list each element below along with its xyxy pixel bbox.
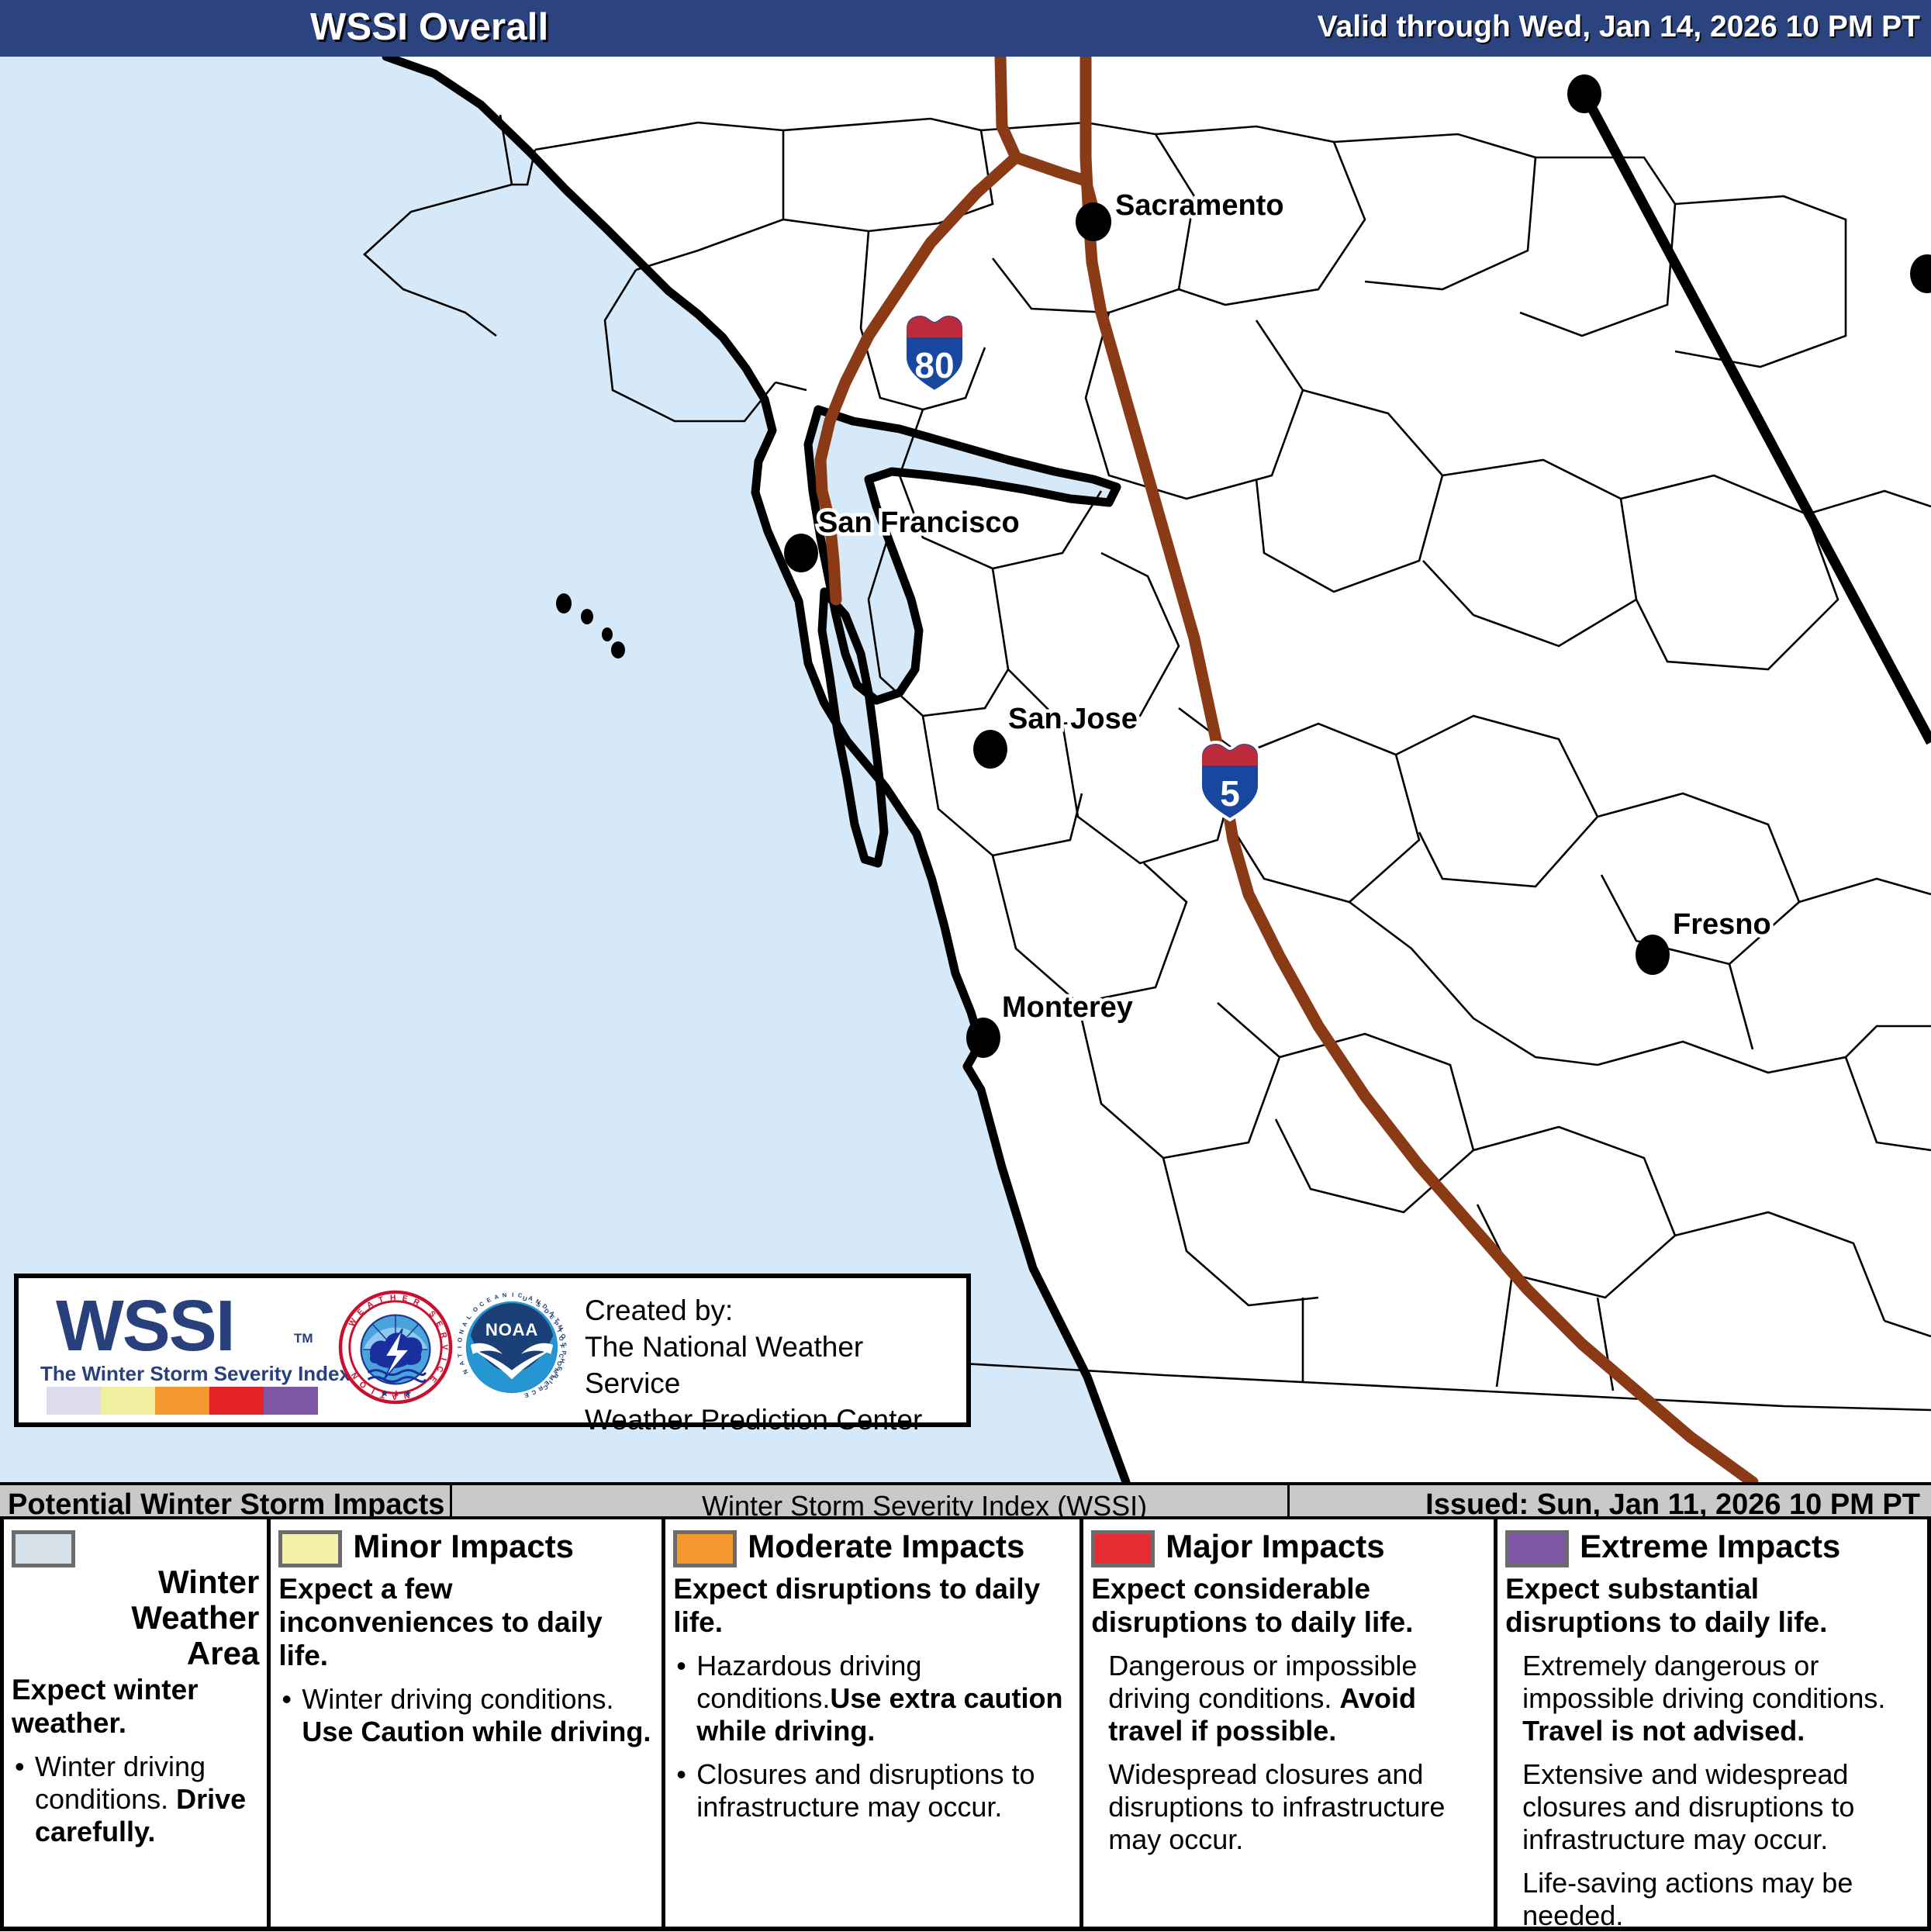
bullet-text: Extensive and widespread closures and di… bbox=[1522, 1758, 1854, 1855]
legend-title-winter-weather-area: WinterWeatherArea bbox=[83, 1564, 259, 1671]
created-by-label: Created by: bbox=[585, 1292, 966, 1329]
impacts-status-bar: Potential Winter Storm Impacts Winter St… bbox=[0, 1482, 1931, 1519]
svg-text:C: C bbox=[478, 1300, 485, 1308]
scale-swatch-winter-weather bbox=[47, 1387, 101, 1415]
svg-text:L: L bbox=[465, 1313, 473, 1320]
wssi-subtitle: The Winter Storm Severity Index bbox=[40, 1362, 351, 1386]
created-by-block: Created by: The National Weather Service… bbox=[585, 1292, 966, 1438]
legend-swatch-moderate-impacts bbox=[673, 1530, 737, 1567]
legend-bullet: •Winter driving conditions. Drive carefu… bbox=[12, 1751, 259, 1848]
legend-column-moderate-impacts: Moderate ImpactsExpect disruptions to da… bbox=[662, 1519, 1079, 1927]
legend-swatch-major-impacts bbox=[1091, 1530, 1155, 1567]
svg-text:80: 80 bbox=[914, 345, 954, 385]
bullet-dot-icon: • bbox=[15, 1751, 25, 1783]
bullet-text: Widespread closures and disruptions to i… bbox=[1108, 1758, 1445, 1855]
svg-text:E: E bbox=[485, 1296, 492, 1304]
svg-text:O: O bbox=[558, 1336, 565, 1341]
svg-text:Fresno: Fresno bbox=[1673, 908, 1771, 941]
issued-label: Issued: Sun, Jan 11, 2026 10 PM PT bbox=[1425, 1488, 1920, 1522]
bullet-dot-icon: • bbox=[282, 1683, 292, 1716]
legend-bullets-minor-impacts: •Winter driving conditions. Use Caution … bbox=[278, 1683, 654, 1748]
svg-text:A: A bbox=[461, 1320, 469, 1327]
svg-text:Monterey: Monterey bbox=[1002, 991, 1133, 1024]
scale-swatch-moderate bbox=[155, 1387, 209, 1415]
created-by-center: Weather Prediction Center bbox=[585, 1401, 966, 1438]
svg-text:H: H bbox=[390, 1294, 396, 1302]
legend-intro-minor-impacts: Expect a few inconveniences to daily lif… bbox=[278, 1572, 654, 1672]
scale-swatch-major bbox=[209, 1387, 264, 1415]
created-by-org: The National Weather Service bbox=[585, 1329, 966, 1401]
svg-text:V: V bbox=[440, 1345, 449, 1350]
national-weather-service-logo: W E A T H E R S E R V I C E N O I T A N bbox=[338, 1290, 453, 1405]
bullet-text: Life-saving actions may be needed. bbox=[1522, 1867, 1853, 1931]
impacts-legend: WinterWeatherAreaExpect winter weather.•… bbox=[0, 1519, 1931, 1931]
svg-text:F: F bbox=[558, 1344, 565, 1348]
legend-swatch-winter-weather-area bbox=[12, 1530, 75, 1567]
svg-text:C: C bbox=[530, 1388, 537, 1397]
legend-bullet: •Closures and disruptions to infrastruct… bbox=[673, 1758, 1072, 1823]
page-header: WSSI Overall Valid through Wed, Jan 14, … bbox=[0, 0, 1931, 57]
svg-text:A: A bbox=[458, 1360, 465, 1366]
svg-text:T: T bbox=[555, 1328, 563, 1334]
wssi-wordmark: WSSI bbox=[56, 1284, 234, 1367]
wssi-color-scale bbox=[47, 1387, 318, 1415]
svg-text:E: E bbox=[523, 1391, 530, 1399]
svg-text:5: 5 bbox=[1220, 773, 1240, 814]
legend-bullet: Dangerous or impossible driving conditio… bbox=[1091, 1650, 1486, 1747]
svg-text:N: N bbox=[461, 1368, 470, 1376]
wssi-trademark: TM bbox=[294, 1331, 313, 1346]
bullet-text: Extremely dangerous or impossible drivin… bbox=[1522, 1650, 1885, 1714]
legend-intro-moderate-impacts: Expect disruptions to daily life. bbox=[673, 1572, 1072, 1639]
legend-bullet: •Hazardous driving conditions.Use extra … bbox=[673, 1650, 1072, 1747]
svg-text:O: O bbox=[472, 1305, 480, 1314]
noaa-logo: NOAA N A T I O N A L O C E A N I C A N D bbox=[454, 1290, 569, 1405]
bullet-dot-icon: • bbox=[676, 1758, 686, 1791]
statusbar-divider-1 bbox=[450, 1485, 452, 1522]
wssi-overall-map-page: WSSI Overall Valid through Wed, Jan 14, … bbox=[0, 0, 1931, 1931]
legend-bullet: Extremely dangerous or impossible drivin… bbox=[1505, 1650, 1919, 1747]
scale-swatch-minor bbox=[101, 1387, 155, 1415]
legend-bullet: •Winter driving conditions. Use Caution … bbox=[278, 1683, 654, 1748]
legend-intro-winter-weather-area: Expect winter weather. bbox=[12, 1673, 259, 1740]
legend-bullets-moderate-impacts: •Hazardous driving conditions.Use extra … bbox=[673, 1650, 1072, 1823]
legend-bullet: Extensive and widespread closures and di… bbox=[1505, 1758, 1919, 1856]
statusbar-divider-2 bbox=[1287, 1485, 1290, 1522]
legend-bullets-winter-weather-area: •Winter driving conditions. Drive carefu… bbox=[12, 1751, 259, 1848]
legend-bullet: Life-saving actions may be needed. bbox=[1505, 1867, 1919, 1932]
svg-text:NOAA: NOAA bbox=[485, 1320, 538, 1339]
svg-text:I: I bbox=[512, 1291, 513, 1298]
svg-text:San Jose: San Jose bbox=[1008, 703, 1138, 735]
legend-column-major-impacts: Major ImpactsExpect considerable disrupt… bbox=[1079, 1519, 1494, 1927]
legend-bullet: Widespread closures and disruptions to i… bbox=[1091, 1758, 1486, 1856]
bullet-text: Closures and disruptions to infrastructu… bbox=[696, 1758, 1035, 1823]
svg-text:★: ★ bbox=[403, 1388, 412, 1399]
bullet-dot-icon: • bbox=[676, 1650, 686, 1682]
svg-text:San Francisco: San Francisco bbox=[818, 506, 1020, 539]
bullet-text: Winter driving conditions. bbox=[302, 1683, 613, 1715]
bullet-emphasis: Travel is not advised. bbox=[1522, 1715, 1805, 1747]
legend-swatch-extreme-impacts bbox=[1505, 1530, 1569, 1567]
wssi-credit-box: WSSI TM The Winter Storm Severity Index bbox=[14, 1274, 971, 1427]
legend-title-major-impacts: Major Impacts bbox=[1166, 1529, 1384, 1564]
legend-bullets-extreme-impacts: Extremely dangerous or impossible drivin… bbox=[1505, 1650, 1919, 1932]
legend-bullets-major-impacts: Dangerous or impossible driving conditio… bbox=[1091, 1650, 1486, 1856]
svg-text:N: N bbox=[502, 1291, 507, 1299]
svg-text:C: C bbox=[558, 1353, 565, 1359]
legend-title-extreme-impacts: Extreme Impacts bbox=[1580, 1529, 1840, 1564]
svg-text:★: ★ bbox=[392, 1388, 401, 1399]
svg-text:N: N bbox=[458, 1329, 465, 1335]
legend-swatch-minor-impacts bbox=[278, 1530, 342, 1567]
svg-text:O: O bbox=[456, 1337, 464, 1343]
svg-text:T: T bbox=[456, 1353, 464, 1357]
bullet-emphasis: Use Caution while driving. bbox=[302, 1716, 651, 1747]
potential-impacts-label: Potential Winter Storm Impacts bbox=[8, 1488, 444, 1522]
page-title: WSSI Overall bbox=[310, 5, 548, 49]
svg-text:I: I bbox=[456, 1346, 463, 1348]
legend-column-minor-impacts: Minor ImpactsExpect a few inconveniences… bbox=[267, 1519, 662, 1927]
legend-column-extreme-impacts: Extreme ImpactsExpect substantial disrup… bbox=[1494, 1519, 1927, 1927]
scale-swatch-extreme bbox=[264, 1387, 318, 1415]
svg-text:A: A bbox=[493, 1293, 499, 1301]
legend-intro-extreme-impacts: Expect substantial disruptions to daily … bbox=[1505, 1572, 1919, 1639]
legend-title-minor-impacts: Minor Impacts bbox=[353, 1529, 574, 1564]
svg-text:★: ★ bbox=[381, 1388, 389, 1399]
svg-text:Sacramento: Sacramento bbox=[1115, 189, 1284, 222]
legend-intro-major-impacts: Expect considerable disruptions to daily… bbox=[1091, 1572, 1486, 1639]
legend-column-winter-weather-area: WinterWeatherAreaExpect winter weather.•… bbox=[4, 1519, 267, 1927]
valid-through-text: Valid through Wed, Jan 14, 2026 10 PM PT bbox=[1318, 10, 1920, 44]
legend-title-moderate-impacts: Moderate Impacts bbox=[748, 1529, 1024, 1564]
map-canvas[interactable]: Sacramento Sacramento San Francisco San … bbox=[0, 57, 1931, 1482]
wssi-full-name-label: Winter Storm Severity Index (WSSI) bbox=[702, 1490, 1147, 1522]
